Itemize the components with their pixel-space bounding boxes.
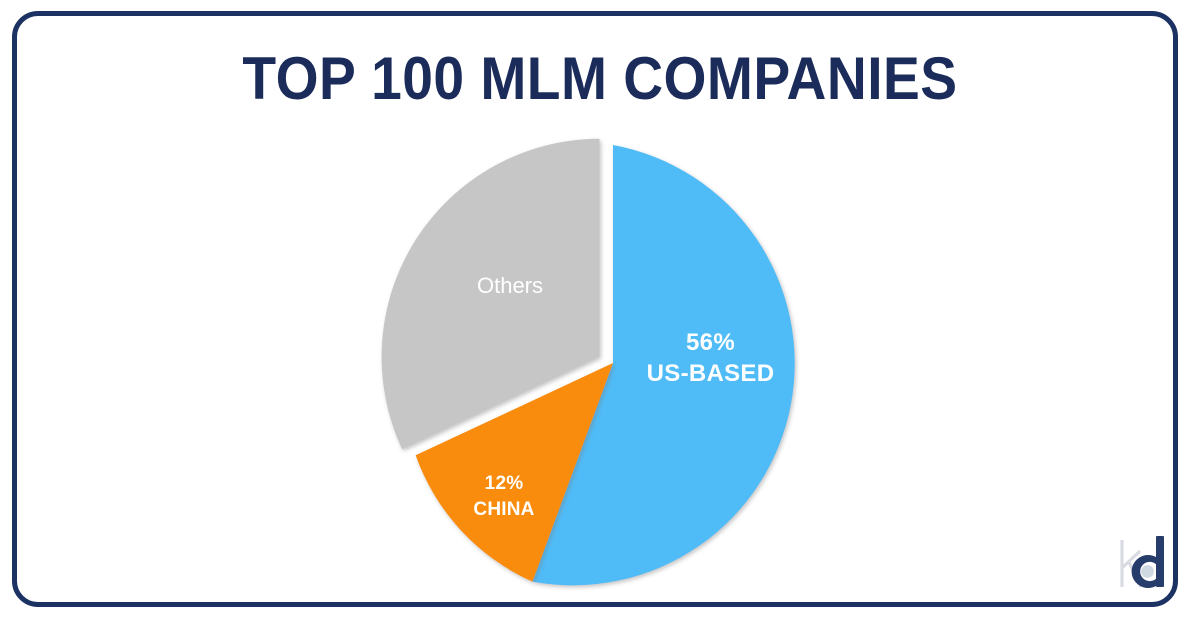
pie-chart xyxy=(370,128,850,603)
pie-chart-svg xyxy=(370,128,850,603)
page-title: TOP 100 MLM COMPANIES xyxy=(48,47,1152,111)
watermark-accent-dot xyxy=(1141,565,1154,578)
infographic-canvas: TOP 100 MLM COMPANIES 56% US-BASED 12% C… xyxy=(0,0,1200,628)
kd-logo-watermark-icon xyxy=(1108,524,1184,600)
watermark-letter-d xyxy=(1132,536,1164,588)
